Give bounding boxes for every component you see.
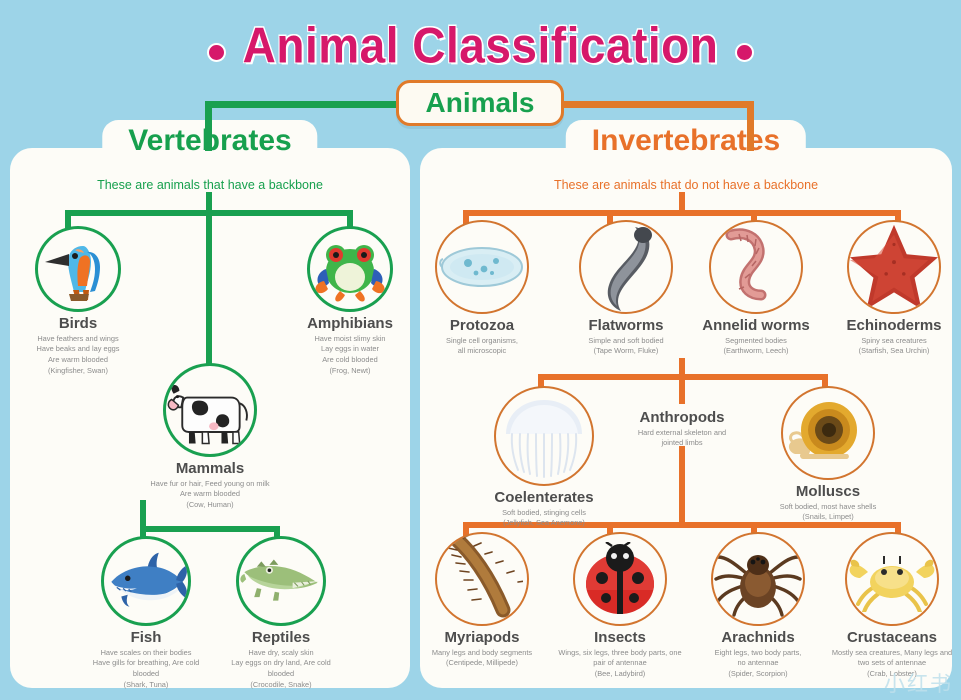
card-molluscs[interactable]: Molluscs Soft bodied, most have shells(S… [762, 386, 894, 523]
card-anthropods-title: Anthropods [616, 410, 748, 427]
invert-bus-horizontal [463, 210, 901, 216]
cow-icon [163, 363, 257, 457]
card-crustaceans-title: Crustaceans [828, 630, 956, 647]
crab-icon [845, 532, 939, 626]
card-echinoderms[interactable]: Echinoderms Spiny sea creatures(Starfish… [832, 220, 956, 357]
card-coelenterates[interactable]: Coelenterates Soft bodied, stinging cell… [478, 386, 610, 529]
starfish-icon [847, 220, 941, 314]
card-echinoderms-title: Echinoderms [832, 318, 956, 335]
invertebrates-subheading: These are animals that do not have a bac… [420, 178, 952, 192]
card-arachnids[interactable]: Arachnids Eight legs, two body parts,no … [696, 532, 820, 680]
card-fish[interactable]: Fish Have scales on their bodiesHave gil… [82, 536, 210, 690]
root-node-animals[interactable]: Animals [396, 80, 564, 126]
card-arachnids-desc: Eight legs, two body parts,no antennae(S… [696, 648, 820, 680]
card-crustaceans[interactable]: Crustaceans Mostly sea creatures, Many l… [828, 532, 956, 680]
card-fish-desc: Have scales on their bodiesHave gills fo… [82, 648, 210, 691]
card-amphibians[interactable]: Amphibians Have moist slimy skinLay eggs… [286, 226, 414, 376]
card-flatworms-desc: Simple and soft bodied(Tape Worm, Fluke) [564, 336, 688, 357]
tree-frog-icon [307, 226, 393, 312]
card-amphibians-desc: Have moist slimy skinLay eggs in waterAr… [286, 334, 414, 377]
vertebrates-subheading: These are animals that have a backbone [10, 178, 410, 192]
card-molluscs-desc: Soft bodied, most have shells(Snails, Li… [762, 502, 894, 523]
vert-lower-bus [140, 526, 280, 532]
root-connector-right-vertical [747, 101, 754, 151]
card-amphibians-title: Amphibians [286, 316, 414, 333]
card-myriapods-desc: Many legs and body segments(Centipede, M… [420, 648, 544, 669]
card-mammals[interactable]: Mammals Have fur or hair, Feed young on … [146, 363, 274, 511]
centipede-icon [435, 532, 529, 626]
flatworm-icon [579, 220, 673, 314]
earthworm-icon [709, 220, 803, 314]
kingfisher-bird-icon [35, 226, 121, 312]
panel-vertebrates: Vertebrates These are animals that have … [10, 148, 410, 688]
card-annelid-worms-desc: Segmented bodies(Earthworm, Leech) [688, 336, 824, 357]
card-mammals-title: Mammals [146, 461, 274, 478]
card-annelid-worms-title: Annelid worms [688, 318, 824, 335]
root-connector-right-horizontal [562, 101, 754, 108]
panel-invertebrates: Invertebrates These are animals that do … [420, 148, 952, 688]
card-annelid-worms[interactable]: Annelid worms Segmented bodies(Earthworm… [688, 220, 824, 357]
card-mammals-desc: Have fur or hair, Feed young on milkAre … [146, 479, 274, 511]
card-insects-title: Insects [552, 630, 688, 647]
watermark: 小红书 [884, 668, 953, 698]
page-title: Animal Classification [243, 16, 719, 74]
root-connector-left-vertical [205, 101, 212, 151]
bullet-dot-right-icon [737, 45, 752, 60]
snail-icon [781, 386, 875, 480]
card-insects-desc: Wings, six legs, three body parts, onepa… [552, 648, 688, 680]
shark-icon [101, 536, 191, 626]
ladybird-icon [573, 532, 667, 626]
card-molluscs-title: Molluscs [762, 484, 894, 501]
card-arachnids-title: Arachnids [696, 630, 820, 647]
title-bar: Animal Classification [0, 18, 961, 72]
card-protozoa-title: Protozoa [420, 318, 544, 335]
card-reptiles-title: Reptiles [216, 630, 346, 647]
anthropods-trunk [679, 446, 685, 528]
card-flatworms[interactable]: Flatworms Simple and soft bodied(Tape Wo… [564, 220, 688, 357]
crocodile-icon [236, 536, 326, 626]
invert-drop-anthropods [679, 380, 685, 404]
root-connector-left-horizontal [205, 101, 397, 108]
jellyfish-icon [494, 386, 594, 486]
card-insects[interactable]: Insects Wings, six legs, three body part… [552, 532, 688, 680]
bullet-dot-left-icon [209, 45, 224, 60]
card-reptiles-desc: Have dry, scaly skinLay eggs on dry land… [216, 648, 346, 691]
card-protozoa[interactable]: Protozoa Single cell organisms,all micro… [420, 220, 544, 357]
card-birds[interactable]: Birds Have feathers and wingsHave beaks … [18, 226, 138, 376]
amoeba-icon [435, 220, 529, 314]
spider-icon [711, 532, 805, 626]
card-anthropods[interactable]: Anthropods Hard external skeleton andjoi… [616, 406, 748, 449]
root-node-label: Animals [426, 87, 535, 119]
card-myriapods-title: Myriapods [420, 630, 544, 647]
card-flatworms-title: Flatworms [564, 318, 688, 335]
invertebrates-heading-badge: Invertebrates [566, 120, 806, 164]
card-birds-desc: Have feathers and wingsHave beaks and la… [18, 334, 138, 377]
card-myriapods[interactable]: Myriapods Many legs and body segments(Ce… [420, 532, 544, 669]
card-coelenterates-desc: Soft bodied, stinging cells(Jellyfish, S… [478, 508, 610, 529]
card-echinoderms-desc: Spiny sea creatures(Starfish, Sea Urchin… [832, 336, 956, 357]
card-birds-title: Birds [18, 316, 138, 333]
card-protozoa-desc: Single cell organisms,all microscopic [420, 336, 544, 357]
card-anthropods-desc: Hard external skeleton andjointed limbs [616, 428, 748, 449]
card-reptiles[interactable]: Reptiles Have dry, scaly skinLay eggs on… [216, 536, 346, 690]
card-fish-title: Fish [82, 630, 210, 647]
card-coelenterates-title: Coelenterates [478, 490, 610, 507]
